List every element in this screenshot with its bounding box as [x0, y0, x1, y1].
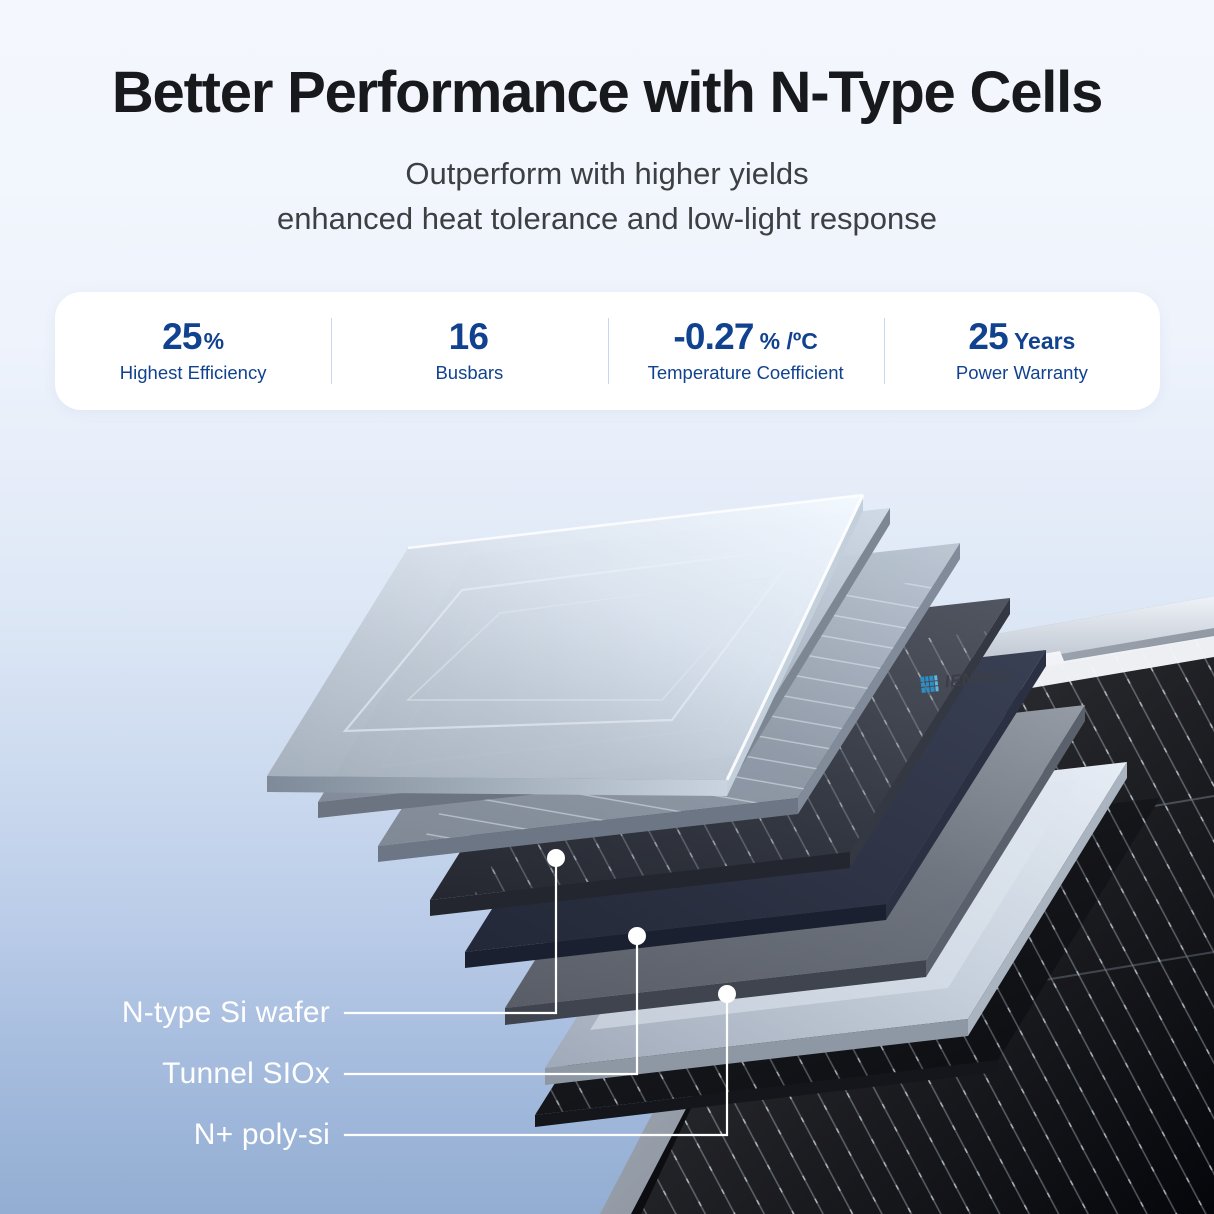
- stat-highest-efficiency: 25 % Highest Efficiency: [55, 292, 331, 410]
- stat-value: -0.27 % /ºC: [673, 318, 818, 355]
- stat-unit: Years: [1014, 330, 1075, 353]
- stat-number: 16: [449, 318, 489, 355]
- stat-value: 16: [449, 318, 491, 355]
- callout-dot-n-plus-poly-si: [718, 985, 736, 1003]
- stat-busbars: 16 Busbars: [331, 292, 607, 410]
- stats-card: 25 % Highest Efficiency 16 Busbars -0.27…: [55, 292, 1160, 410]
- stat-value: 25 Years: [968, 318, 1075, 355]
- stat-unit: %: [204, 330, 224, 353]
- stat-temperature-coefficient: -0.27 % /ºC Temperature Coefficient: [608, 292, 884, 410]
- stat-number: 25: [968, 318, 1008, 355]
- stat-label: Highest Efficiency: [120, 362, 267, 384]
- stat-label: Power Warranty: [956, 362, 1088, 384]
- callout-dot-tunnel-siox: [628, 927, 646, 945]
- poster-stage: Better Performance with N-Type Cells Out…: [0, 0, 1214, 1214]
- callout-dot-n-type-si-wafer: [547, 849, 565, 867]
- stat-number: -0.27: [673, 318, 753, 355]
- stat-power-warranty: 25 Years Power Warranty: [884, 292, 1160, 410]
- callout-label-n-type-si-wafer: N-type Si wafer: [0, 996, 330, 1030]
- subtitle-line-2: enhanced heat tolerance and low-light re…: [0, 197, 1214, 242]
- page-subtitle: Outperform with higher yields enhanced h…: [0, 152, 1214, 241]
- stat-value: 25 %: [162, 318, 224, 355]
- stat-label: Busbars: [435, 362, 503, 384]
- subtitle-line-1: Outperform with higher yields: [0, 152, 1214, 197]
- page-title: Better Performance with N-Type Cells: [0, 62, 1214, 123]
- stat-label: Temperature Coefficient: [648, 362, 844, 384]
- callout-label-n-plus-poly-si: N+ poly-si: [0, 1118, 330, 1152]
- stat-number: 25: [162, 318, 202, 355]
- stat-unit: % /ºC: [760, 330, 818, 353]
- callout-label-tunnel-siox: Tunnel SIOx: [0, 1057, 330, 1091]
